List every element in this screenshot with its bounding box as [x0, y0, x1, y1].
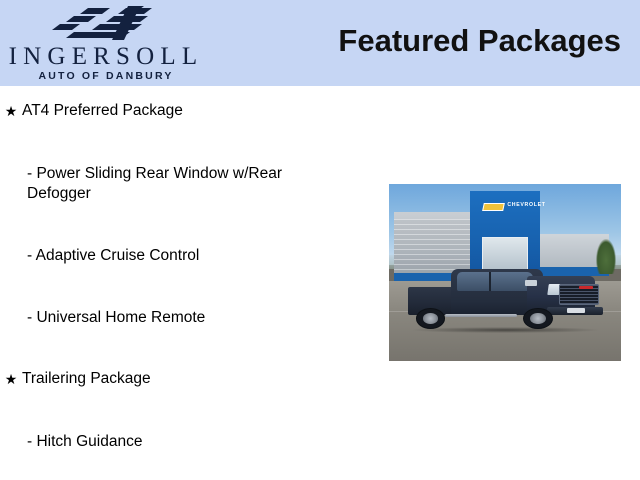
winged-emblem-icon: [44, 5, 164, 41]
chevrolet-bowtie-icon: [482, 203, 505, 211]
header-band: INGERSOLL AUTO OF DANBURY Featured Packa…: [0, 0, 640, 86]
star-bullet-icon: ★: [0, 100, 22, 122]
truck-side-mirror: [525, 280, 537, 286]
package-heading: ★ AT4 Preferred Package: [0, 100, 360, 122]
truck-window-divider: [489, 272, 490, 290]
package-list: ★ AT4 Preferred Package - Power Sliding …: [0, 86, 360, 452]
gmc-badge-icon: [579, 286, 593, 290]
vehicle-photo: CHEVROLET: [388, 183, 622, 362]
vehicle-photo-scene: CHEVROLET: [389, 184, 621, 361]
slide-content: ★ AT4 Preferred Package - Power Sliding …: [0, 86, 640, 480]
page-title: Featured Packages: [338, 22, 621, 59]
package-name: AT4 Preferred Package: [22, 100, 183, 122]
package-feature: - Power Sliding Rear Window w/Rear Defog…: [0, 164, 360, 204]
dealership-sign-text: CHEVROLET: [507, 202, 545, 208]
package-feature: - Universal Home Remote: [0, 308, 360, 328]
package-feature: - Adaptive Cruise Control: [0, 246, 360, 266]
logo-subwordmark: AUTO OF DANBURY: [6, 71, 206, 82]
truck-rear-rim: [423, 313, 439, 324]
truck-windows: [457, 272, 533, 290]
package-feature: - Hitch Guidance: [0, 432, 360, 452]
truck-running-board: [445, 314, 517, 318]
dealer-logo[interactable]: INGERSOLL AUTO OF DANBURY: [6, 2, 206, 84]
star-bullet-icon: ★: [0, 368, 22, 390]
logo-wordmark: INGERSOLL: [6, 44, 206, 69]
truck-shadow: [412, 327, 600, 333]
truck-front-wheel: [523, 308, 553, 329]
truck-front-rim: [530, 313, 546, 324]
gmc-sierra-truck: [408, 267, 608, 338]
package-heading: ★ Trailering Package: [0, 368, 360, 390]
truck-license-plate: [567, 308, 585, 313]
package-name: Trailering Package: [22, 368, 151, 390]
truck-rear-wheel: [416, 308, 446, 329]
